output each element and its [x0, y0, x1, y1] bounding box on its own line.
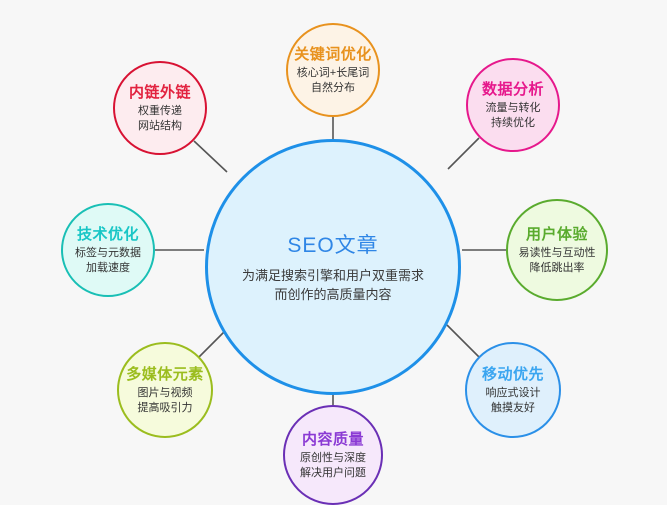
- node-title-content-quality: 内容质量: [302, 430, 364, 450]
- node-line-user-experience-1: 易读性与互动性: [519, 246, 596, 261]
- node-internal-external-links[interactable]: 内链外链权重传递网站结构: [113, 61, 207, 155]
- connector-line-data-analysis: [448, 138, 479, 169]
- node-technical-optimization[interactable]: 技术优化标签与元数据加载速度: [61, 203, 155, 297]
- connector-line-mobile-first: [447, 325, 479, 357]
- node-title-multimedia-elements: 多媒体元素: [126, 365, 204, 385]
- node-multimedia-elements[interactable]: 多媒体元素图片与视频提高吸引力: [117, 342, 213, 438]
- center-node-line-2: 而创作的高质量内容: [274, 286, 391, 305]
- node-line-user-experience-2: 降低跳出率: [530, 261, 585, 276]
- node-title-technical-optimization: 技术优化: [77, 225, 139, 245]
- node-line-keyword-optimization-1: 核心词+长尾词: [297, 66, 369, 81]
- node-title-user-experience: 用户体验: [526, 225, 588, 245]
- node-data-analysis[interactable]: 数据分析流量与转化持续优化: [466, 58, 560, 152]
- node-line-data-analysis-2: 持续优化: [491, 116, 535, 131]
- node-line-multimedia-elements-2: 提高吸引力: [138, 401, 193, 416]
- node-title-internal-external-links: 内链外链: [129, 83, 191, 103]
- node-user-experience[interactable]: 用户体验易读性与互动性降低跳出率: [506, 199, 608, 301]
- node-line-mobile-first-1: 响应式设计: [486, 386, 541, 401]
- node-line-mobile-first-2: 触摸友好: [491, 401, 535, 416]
- node-mobile-first[interactable]: 移动优先响应式设计触摸友好: [465, 342, 561, 438]
- node-title-data-analysis: 数据分析: [482, 80, 544, 100]
- node-line-internal-external-links-2: 网站结构: [138, 119, 182, 134]
- node-line-content-quality-1: 原创性与深度: [300, 451, 366, 466]
- node-line-internal-external-links-1: 权重传递: [138, 104, 182, 119]
- node-line-keyword-optimization-2: 自然分布: [311, 81, 355, 96]
- node-keyword-optimization[interactable]: 关键词优化核心词+长尾词自然分布: [286, 23, 380, 117]
- node-line-data-analysis-1: 流量与转化: [486, 101, 541, 116]
- node-line-technical-optimization-2: 加载速度: [86, 261, 130, 276]
- center-node-seo-article[interactable]: SEO文章为满足搜索引擎和用户双重需求而创作的高质量内容: [205, 139, 461, 395]
- connector-line-internal-external-links: [194, 141, 227, 172]
- node-title-mobile-first: 移动优先: [482, 365, 544, 385]
- node-line-technical-optimization-1: 标签与元数据: [75, 246, 141, 261]
- center-node-line-1: 为满足搜索引擎和用户双重需求: [242, 267, 424, 286]
- center-node-title: SEO文章: [287, 229, 378, 259]
- node-line-content-quality-2: 解决用户问题: [300, 466, 366, 481]
- node-line-multimedia-elements-1: 图片与视频: [138, 386, 193, 401]
- seo-mindmap-diagram: SEO文章为满足搜索引擎和用户双重需求而创作的高质量内容关键词优化核心词+长尾词…: [0, 0, 667, 500]
- node-title-keyword-optimization: 关键词优化: [294, 45, 372, 65]
- node-content-quality[interactable]: 内容质量原创性与深度解决用户问题: [283, 405, 383, 505]
